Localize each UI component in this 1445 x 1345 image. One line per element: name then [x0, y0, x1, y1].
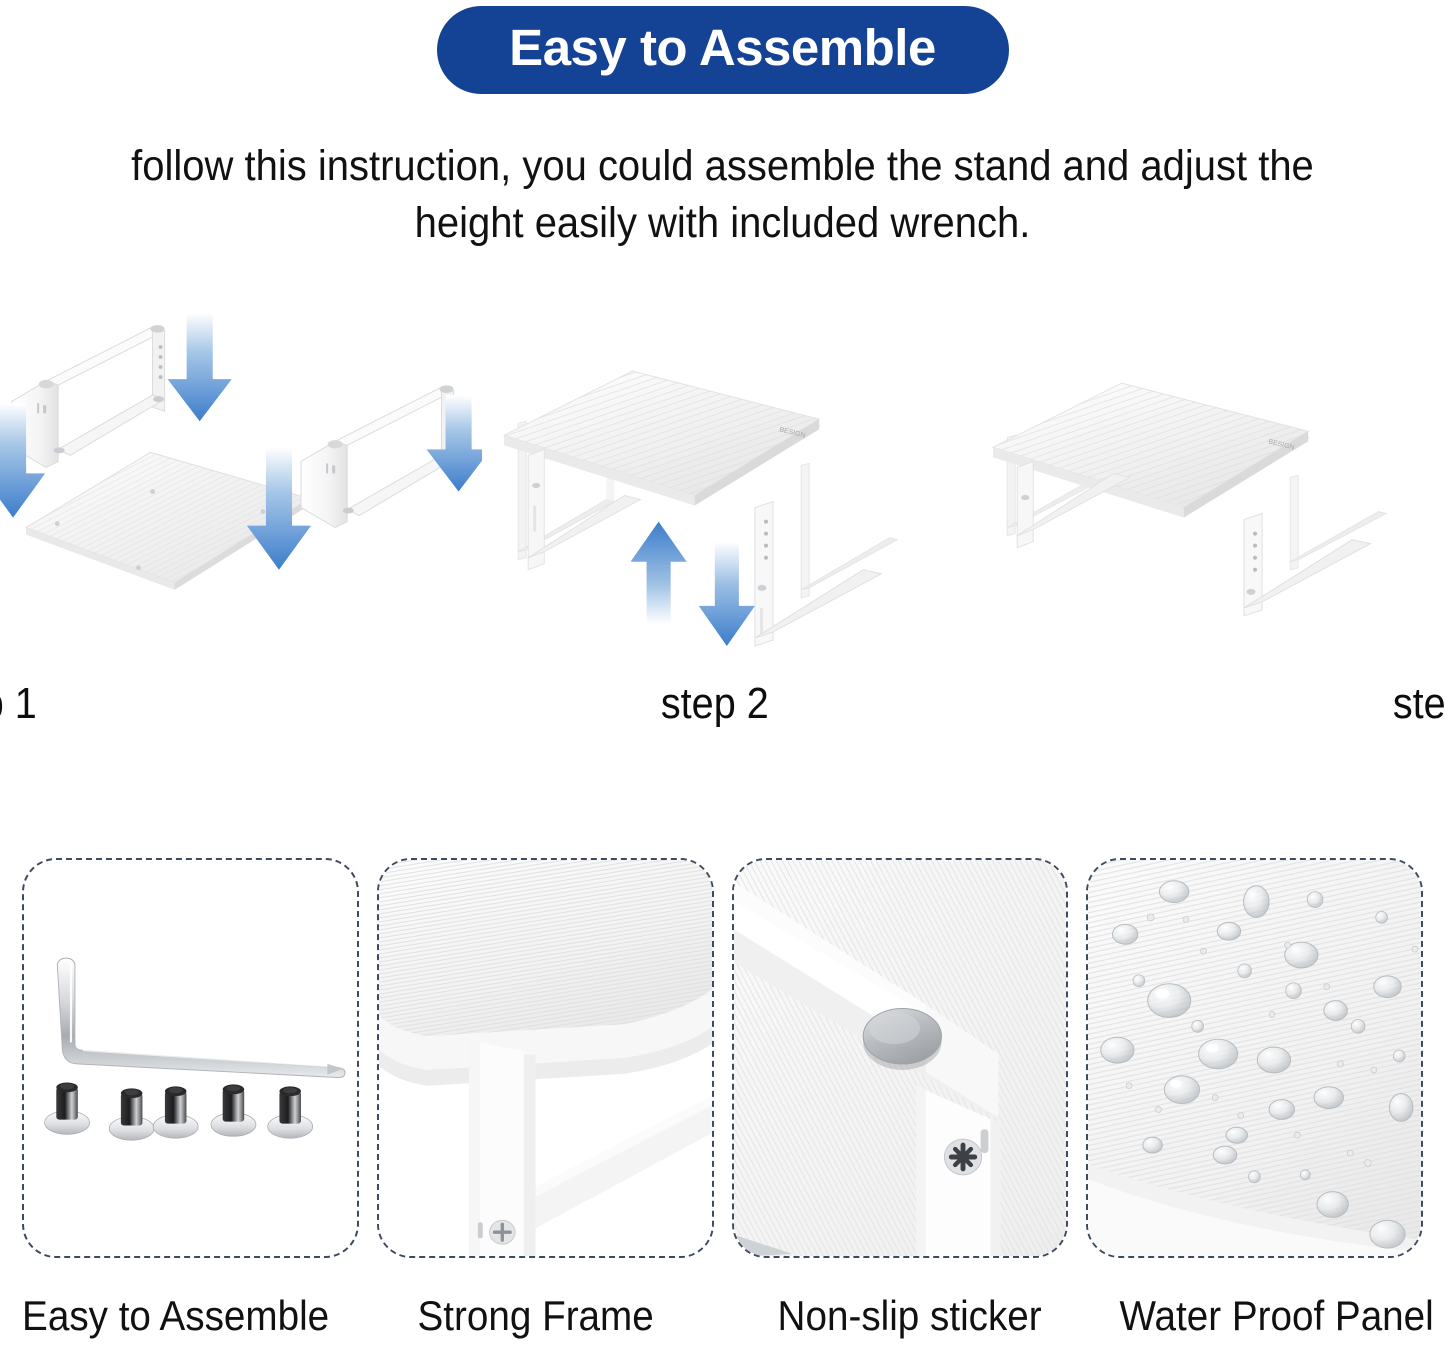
step-2: BESIGN: [482, 268, 964, 723]
feature-4-image: [1086, 858, 1423, 1258]
screw-icon: [944, 1139, 981, 1175]
feature-captions: Easy to Assemble Strong Frame Non-slip s…: [0, 1288, 1445, 1344]
title-pill: Easy to Assemble: [437, 6, 1009, 94]
feature-1-image: [22, 858, 359, 1258]
feature-easy-to-assemble: [22, 858, 359, 1258]
bolt-group: [45, 1082, 313, 1140]
page-title: Easy to Assemble: [499, 18, 947, 78]
step-2-label: step 2: [498, 679, 932, 729]
feature-3-image: [732, 858, 1069, 1258]
title-banner: Easy to Assemble: [0, 6, 1445, 94]
feature-water-proof-panel: [1086, 858, 1423, 1258]
step-1: step 1: [0, 268, 482, 723]
feature-panels: [22, 858, 1423, 1258]
feature-2-image: [377, 858, 714, 1258]
down-arrow: [698, 542, 754, 646]
subtitle-text: follow this instruction, you could assem…: [106, 138, 1338, 252]
down-arrow: [168, 313, 232, 421]
feature-strong-frame: [377, 858, 714, 1258]
infographic-page: Easy to Assemble follow this instruction…: [0, 0, 1445, 1345]
caption-strong-frame: Strong Frame: [370, 1288, 702, 1344]
step-3-illustration: BESIGN: [963, 268, 1445, 723]
caption-non-slip-sticker: Non-slip sticker: [743, 1288, 1075, 1344]
step-1-illustration: [0, 268, 482, 723]
step-2-illustration: BESIGN: [482, 268, 964, 723]
allen-wrench-icon: [57, 958, 345, 1077]
caption-easy-to-assemble: Easy to Assemble: [9, 1288, 341, 1344]
down-arrow: [426, 395, 481, 491]
non-slip-pad-icon: [863, 1009, 941, 1070]
step-3: BESIGN: [963, 268, 1445, 723]
step-1-label: step 1: [0, 679, 200, 729]
up-arrow: [630, 522, 686, 624]
step-3-label: step 3: [1230, 679, 1445, 729]
assembly-steps: step 1: [0, 268, 1445, 723]
feature-non-slip-sticker: [732, 858, 1069, 1258]
caption-water-proof-panel: Water Proof Panel: [1110, 1288, 1442, 1344]
